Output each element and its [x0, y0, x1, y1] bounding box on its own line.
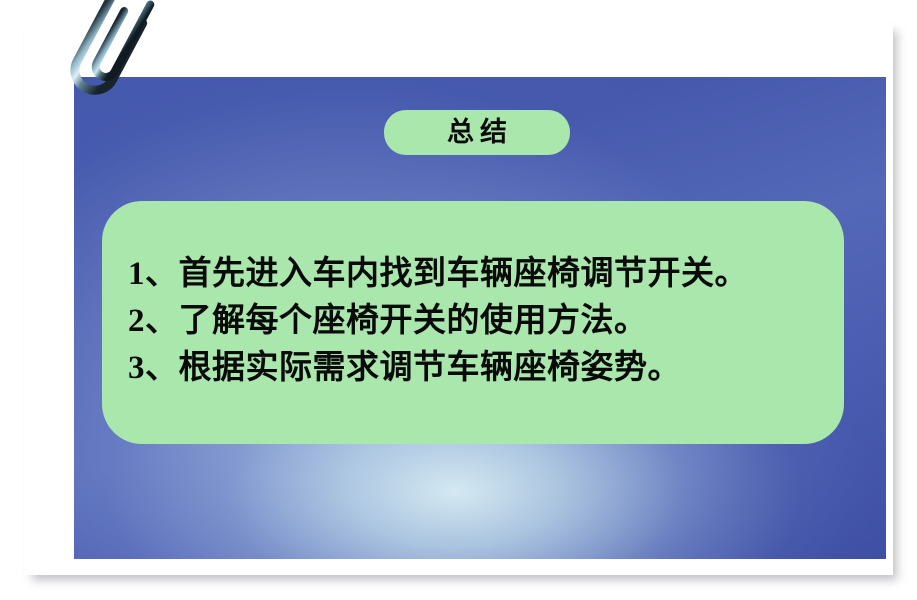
list-item: 1、首先进入车内找到车辆座椅调节开关。 — [128, 251, 830, 298]
slide-canvas: 总结 1、首先进入车内找到车辆座椅调节开关。 2、了解每个座椅开关的使用方法。 … — [74, 77, 886, 559]
slide-content-panel: 1、首先进入车内找到车辆座椅调节开关。 2、了解每个座椅开关的使用方法。 3、根… — [102, 201, 844, 444]
summary-list: 1、首先进入车内找到车辆座椅调节开关。 2、了解每个座椅开关的使用方法。 3、根… — [128, 251, 830, 392]
slide-title-box: 总结 — [384, 110, 570, 155]
slide-viewer: 总结 1、首先进入车内找到车辆座椅调节开关。 2、了解每个座椅开关的使用方法。 … — [0, 0, 917, 600]
list-item: 2、了解每个座椅开关的使用方法。 — [128, 298, 830, 345]
list-item: 3、根据实际需求调节车辆座椅姿势。 — [128, 345, 830, 392]
page-title: 总结 — [441, 119, 513, 146]
paper-sheet: 总结 1、首先进入车内找到车辆座椅调节开关。 2、了解每个座椅开关的使用方法。 … — [24, 22, 893, 575]
